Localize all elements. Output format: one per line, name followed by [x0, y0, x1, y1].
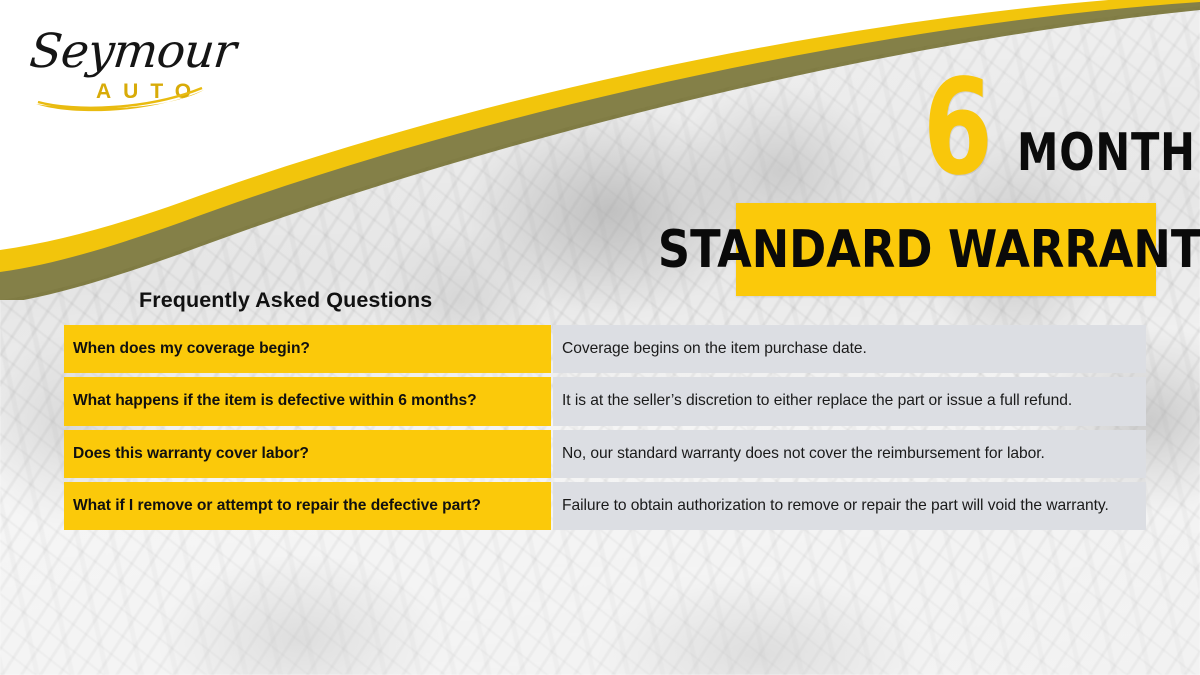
warranty-term-headline: 6 MONTH	[905, 72, 1165, 192]
table-row: What happens if the item is defective wi…	[64, 377, 1146, 425]
faq-answer-cell: No, our standard warranty does not cover…	[553, 430, 1146, 478]
faq-answer-cell: It is at the seller’s discretion to eith…	[553, 377, 1146, 425]
faq-answer-cell: Coverage begins on the item purchase dat…	[553, 325, 1146, 373]
warranty-faq-slide: Seymour AUTO 6 MONTH STANDARD WARRANTY F…	[0, 0, 1200, 675]
faq-question-cell: What if I remove or attempt to repair th…	[64, 482, 551, 530]
seymour-auto-logo[interactable]: Seymour AUTO	[22, 18, 252, 123]
table-row: What if I remove or attempt to repair th…	[64, 482, 1146, 530]
table-row: Does this warranty cover labor? No, our …	[64, 430, 1146, 478]
faq-answer-cell: Failure to obtain authorization to remov…	[553, 482, 1146, 530]
warranty-term-unit: MONTH	[1017, 127, 1196, 179]
faq-question-cell: Does this warranty cover labor?	[64, 430, 551, 478]
faq-question-cell: When does my coverage begin?	[64, 325, 551, 373]
standard-warranty-banner-text: STANDARD WARRANTY	[658, 224, 1200, 276]
logo-swoosh-icon	[22, 18, 252, 123]
warranty-term-number: 6	[923, 62, 993, 194]
standard-warranty-banner: STANDARD WARRANTY	[736, 203, 1156, 296]
faq-question-cell: What happens if the item is defective wi…	[64, 377, 551, 425]
table-row: When does my coverage begin? Coverage be…	[64, 325, 1146, 373]
faq-heading: Frequently Asked Questions	[139, 288, 432, 313]
faq-table: When does my coverage begin? Coverage be…	[62, 321, 1148, 534]
